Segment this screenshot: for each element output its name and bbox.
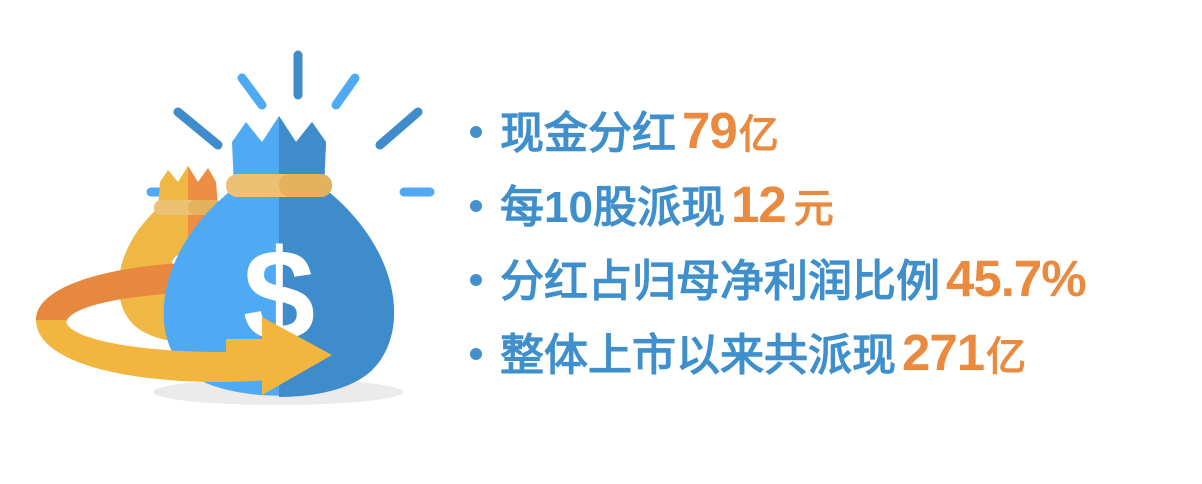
list-item-content: 整体上市以来共派现 271 亿 xyxy=(500,327,1026,378)
list-item-value: 45.7% xyxy=(946,253,1086,304)
list-item: 整体上市以来共派现 271 亿 xyxy=(470,327,1190,401)
list-item-value: 79 xyxy=(682,105,737,156)
list-item-label: 分红占归母净利润比例 xyxy=(500,260,940,304)
list-item-label: 每10股派现 xyxy=(500,186,725,230)
dividend-highlights-list: 现金分红 79 亿 每10股派现 12 元 分红占归母净利润比例 45.7% xyxy=(470,105,1190,401)
list-item-unit: 亿 xyxy=(986,337,1026,377)
list-item-unit: 亿 xyxy=(739,115,779,155)
list-item-unit: 元 xyxy=(794,189,834,229)
list-item: 分红占归母净利润比例 45.7% xyxy=(470,253,1190,327)
bullet-dot-icon xyxy=(470,126,482,138)
list-item-content: 分红占归母净利润比例 45.7% xyxy=(500,253,1088,304)
list-item-value: 12 xyxy=(731,179,786,230)
list-item-content: 现金分红 79 亿 xyxy=(500,105,779,156)
list-item: 每10股派现 12 元 xyxy=(470,179,1190,253)
bullet-dot-icon xyxy=(470,348,482,360)
list-item-label: 现金分红 xyxy=(500,112,676,156)
bullet-dot-icon xyxy=(470,200,482,212)
list-item-label: 整体上市以来共派现 xyxy=(500,334,896,378)
infographic-root: $ $ xyxy=(0,0,1202,484)
list-item-content: 每10股派现 12 元 xyxy=(500,179,834,230)
bullet-dot-icon xyxy=(470,274,482,286)
money-bag-illustration: $ $ xyxy=(18,30,458,450)
list-item: 现金分红 79 亿 xyxy=(470,105,1190,179)
list-item-value: 271 xyxy=(902,327,984,378)
